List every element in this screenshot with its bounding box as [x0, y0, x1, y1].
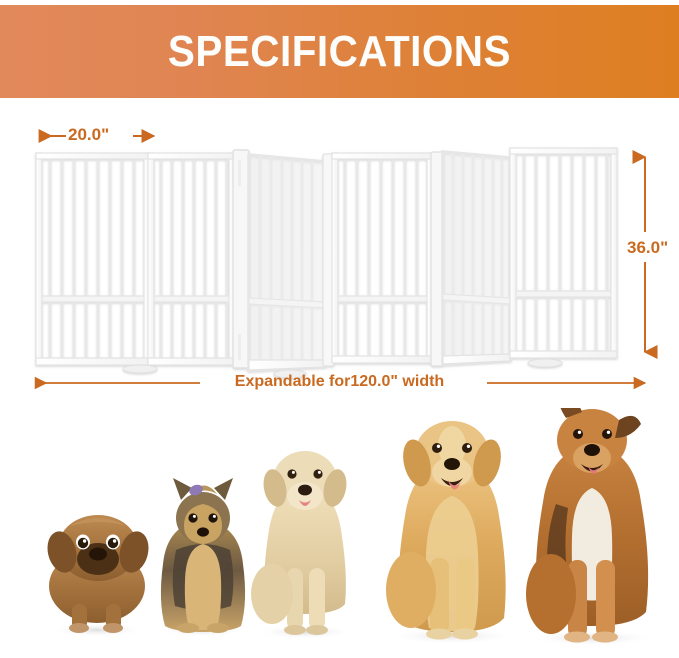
- dog-shepherd-mix: [526, 408, 654, 646]
- gate-panel-6: [510, 148, 617, 367]
- gate-panel-1: [36, 153, 157, 373]
- gate-panel-3: [249, 155, 325, 378]
- dog-golden-retriever: [386, 421, 514, 644]
- dogs-illustration: [0, 408, 679, 653]
- panel-width-label: 20.0": [68, 125, 109, 145]
- dog-yorkshire-terrier: [159, 478, 247, 637]
- page-title: SPECIFICATIONS: [168, 30, 511, 74]
- expandable-width-label: Expandable for120.0" width: [0, 373, 679, 391]
- gate-support-foot: [123, 365, 157, 373]
- dog-pekingese-puppy: [43, 515, 152, 637]
- gate-panel-2: [148, 153, 235, 365]
- gate-support-foot: [528, 359, 562, 367]
- specifications-page: SPECIFICATIONS: [0, 0, 679, 653]
- gate-hinge-post-1: [233, 150, 249, 368]
- dog-golden-retriever-puppy: [251, 451, 353, 639]
- dog-size-comparison-row: [0, 408, 679, 653]
- gate-panel-4: [332, 153, 433, 363]
- gate-height-label: 36.0": [627, 238, 668, 258]
- gate-hinge-post-3: [431, 152, 443, 366]
- header-banner: SPECIFICATIONS: [0, 5, 679, 98]
- gate-panel-5: [443, 152, 510, 364]
